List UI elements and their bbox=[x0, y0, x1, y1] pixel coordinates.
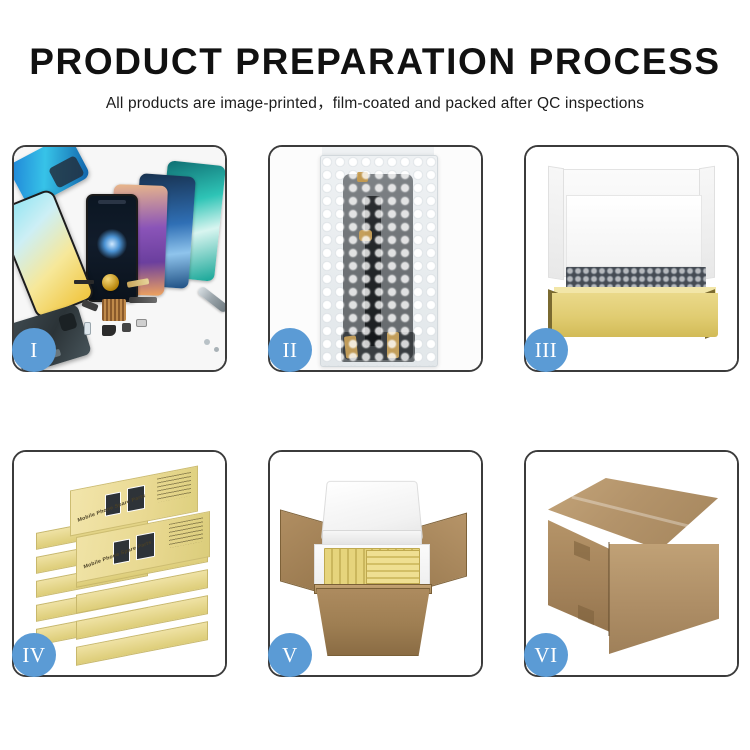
product-preparation-process-infographic: PRODUCT PREPARATION PROCESS All products… bbox=[0, 0, 750, 750]
process-step-card-6: VI bbox=[524, 450, 739, 677]
box-side-flap-icon bbox=[548, 166, 564, 281]
camera-module-icon bbox=[102, 325, 116, 336]
carton-body-icon bbox=[316, 588, 430, 656]
earpiece-mesh-icon bbox=[136, 319, 147, 327]
screw-icon bbox=[204, 339, 210, 345]
step-badge-2: II bbox=[268, 328, 312, 372]
white-foam-sheet-icon bbox=[566, 195, 702, 267]
step-badge-5: V bbox=[268, 633, 312, 677]
bubble-wrap-bag-icon bbox=[320, 155, 438, 367]
step-badge-4: IV bbox=[12, 633, 56, 677]
step-numeral: V bbox=[282, 643, 298, 668]
copper-mesh-chip-icon bbox=[102, 299, 126, 321]
carton-right-face-icon bbox=[609, 544, 719, 654]
step-numeral: IV bbox=[22, 643, 45, 668]
step-numeral: II bbox=[283, 338, 298, 363]
step-numeral: VI bbox=[534, 643, 557, 668]
process-steps-grid: I bbox=[12, 145, 739, 677]
page-title: PRODUCT PREPARATION PROCESS bbox=[0, 43, 750, 82]
carton-vertical-edge-icon bbox=[608, 542, 610, 636]
vibrator-motor-icon bbox=[122, 323, 131, 332]
box-label-text: Mobile Phone Spare Parts bbox=[77, 484, 169, 523]
process-step-card-1: I bbox=[12, 145, 227, 372]
yellow-boxes-inside-icon bbox=[366, 550, 420, 584]
page-subtitle: All products are image-printed，film-coat… bbox=[0, 91, 750, 113]
box-tray-front-icon bbox=[552, 293, 718, 337]
process-step-card-4: Mobile Phone Spare Parts Mobile Phone Sp… bbox=[12, 450, 227, 677]
process-step-card-2: II bbox=[268, 145, 483, 372]
screw-icon bbox=[214, 347, 219, 352]
process-step-card-5: V bbox=[268, 450, 483, 677]
box-label-text: Mobile Phone Spare Parts bbox=[83, 531, 175, 570]
flex-cable-dark-icon bbox=[129, 297, 157, 303]
step-numeral: III bbox=[535, 338, 557, 363]
bubble-texture-overlay bbox=[321, 156, 437, 366]
step-badge-1: I bbox=[12, 328, 56, 372]
sim-tray-icon bbox=[84, 322, 91, 335]
screwdriver-icon bbox=[197, 285, 225, 313]
step-badge-3: III bbox=[524, 328, 568, 372]
header: PRODUCT PREPARATION PROCESS All products… bbox=[0, 0, 750, 113]
component-bar-icon bbox=[74, 280, 94, 284]
step-badge-6: VI bbox=[524, 633, 568, 677]
speaker-coil-icon bbox=[102, 274, 119, 291]
process-step-card-3: III bbox=[524, 145, 739, 372]
step-numeral: I bbox=[30, 338, 38, 363]
